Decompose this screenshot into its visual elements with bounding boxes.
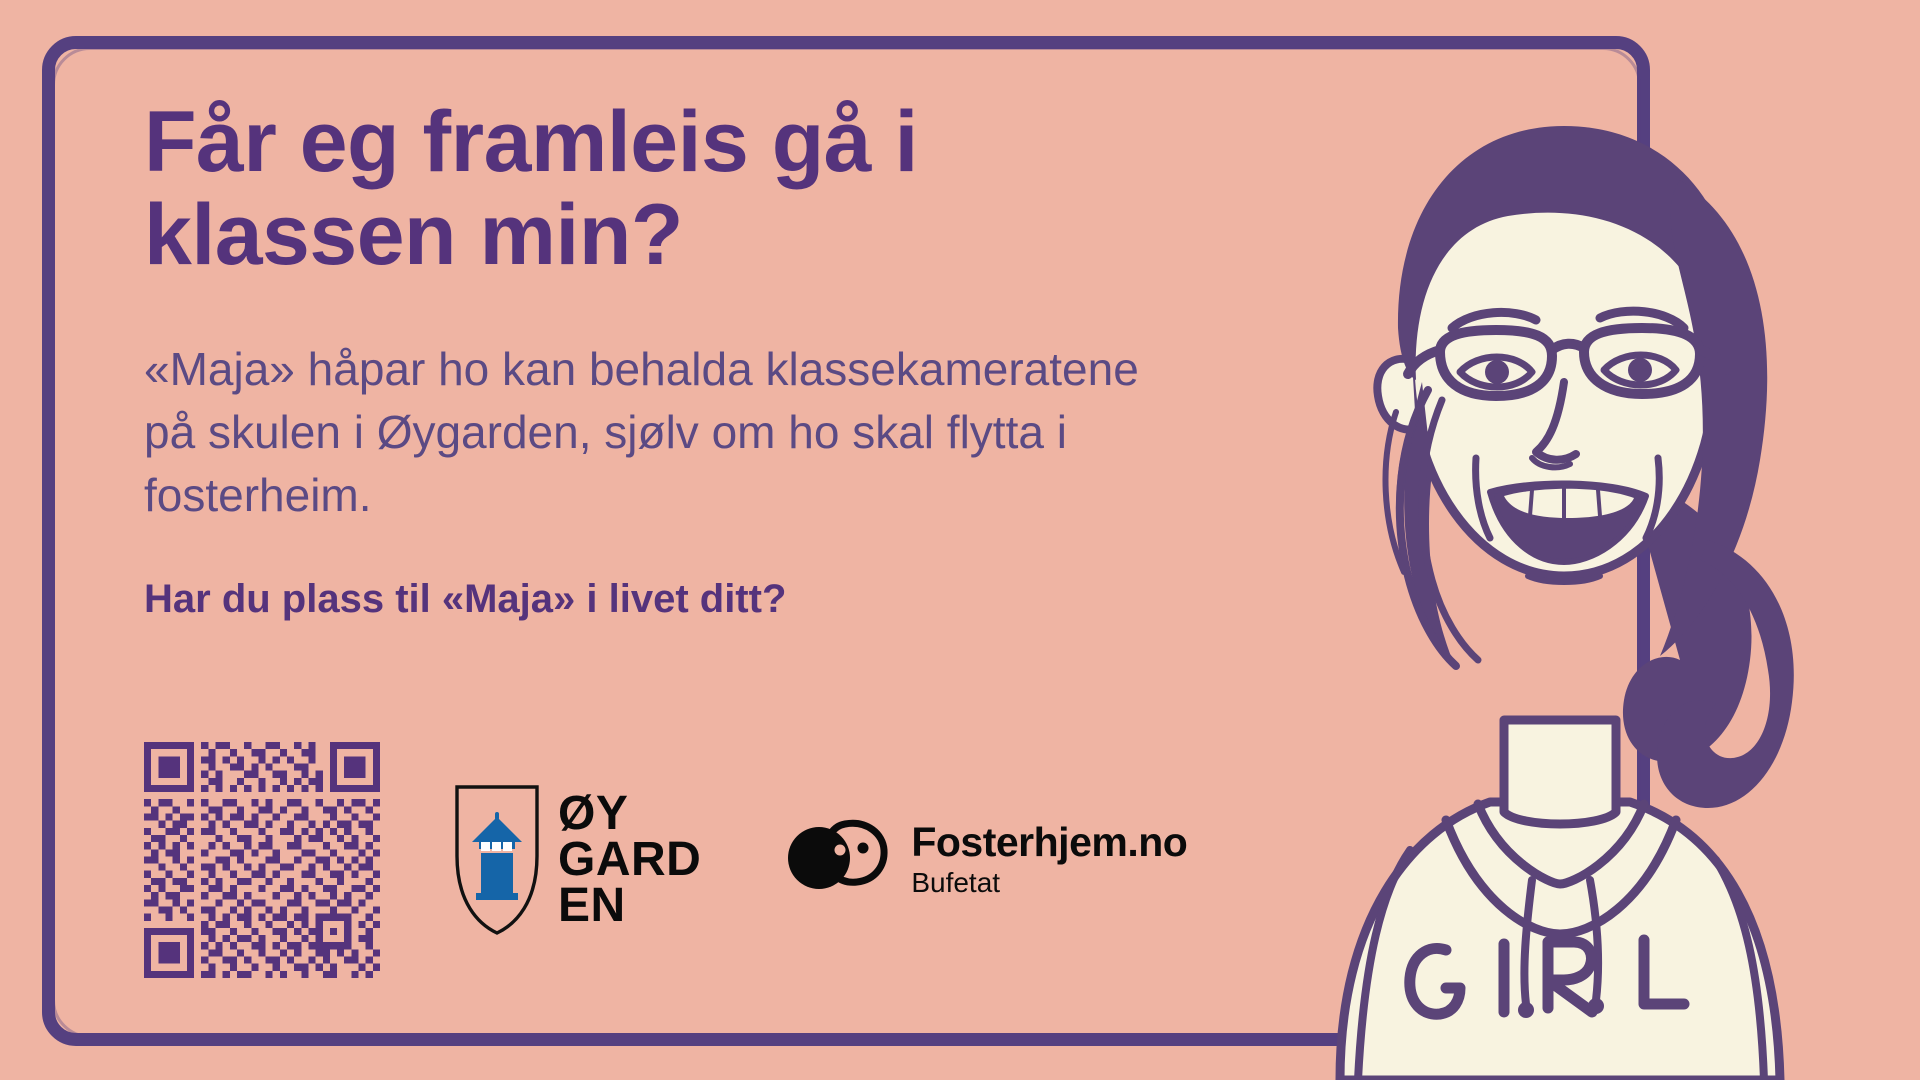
girl-with-glasses-illustration — [1160, 60, 1920, 1080]
qr-code-icon[interactable] — [144, 742, 380, 978]
oygarden-wordmark-line-1: ØY — [558, 791, 701, 837]
logo-row: ØY GARD EN Fosterhjem.no Bufetat — [144, 742, 1187, 978]
fosterhjem-logo[interactable]: Fosterhjem.no Bufetat — [783, 814, 1187, 906]
body-text: «Maja» håpar ho kan behalda klassekamera… — [144, 338, 1154, 527]
oygarden-wordmark-line-2: GARD — [558, 837, 701, 883]
fosterhjem-subtitle: Bufetat — [911, 866, 1187, 900]
page-title: Får eg framleis gå i klassen min? — [144, 96, 1084, 282]
fosterhjem-faces-icon — [783, 814, 895, 906]
text-content: Får eg framleis gå i klassen min? «Maja»… — [144, 96, 1154, 622]
poster: Får eg framleis gå i klassen min? «Maja»… — [0, 0, 1920, 1080]
oygarden-shield-icon — [454, 784, 540, 936]
oygarden-wordmark: ØY GARD EN — [558, 791, 701, 929]
fosterhjem-wordmark: Fosterhjem.no Bufetat — [911, 821, 1187, 900]
oygarden-logo[interactable]: ØY GARD EN — [454, 784, 701, 936]
call-to-action-text: Har du plass til «Maja» i livet ditt? — [144, 577, 1154, 622]
fosterhjem-name: Fosterhjem.no — [911, 821, 1187, 864]
oygarden-wordmark-line-3: EN — [558, 883, 701, 929]
